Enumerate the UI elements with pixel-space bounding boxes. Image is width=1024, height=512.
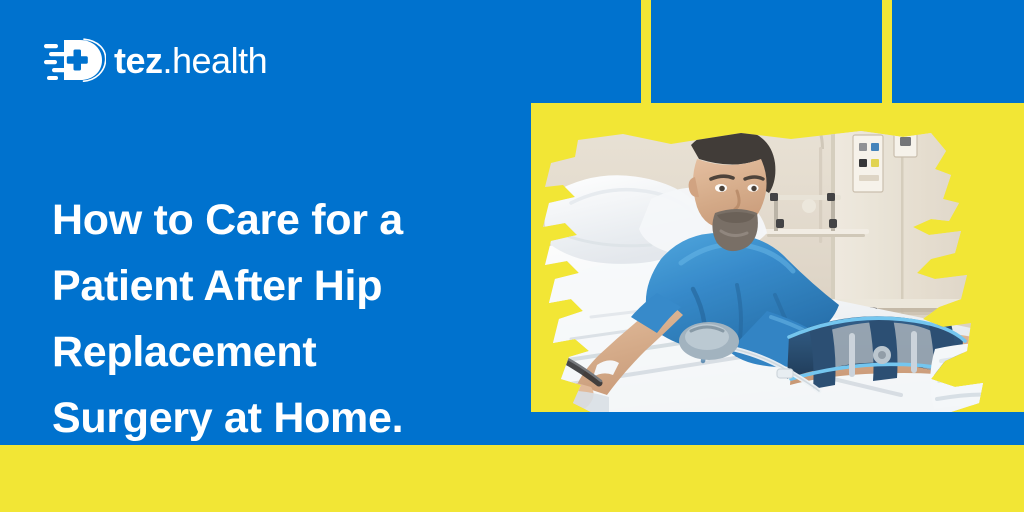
headline-line-1: How to Care for a bbox=[52, 187, 482, 253]
brand-wordmark-light: .health bbox=[163, 40, 268, 81]
yellow-bottom-strip bbox=[0, 445, 1024, 512]
headline: How to Care for a Patient After Hip Repl… bbox=[52, 187, 482, 451]
headline-line-4: Surgery at Home. bbox=[52, 385, 482, 451]
blog-banner: tez.health How to Care for a Patient Aft… bbox=[0, 0, 1024, 512]
hospital-patient-photo bbox=[531, 103, 1024, 412]
headline-line-2: Patient After Hip bbox=[52, 253, 482, 319]
brand-wordmark: tez.health bbox=[114, 43, 267, 79]
yellow-vertical-tick-1 bbox=[641, 0, 651, 104]
brand-wordmark-bold: tez bbox=[114, 40, 163, 81]
tez-health-speed-cross-icon bbox=[44, 38, 106, 82]
hero-photo bbox=[531, 103, 1024, 412]
headline-line-3: Replacement bbox=[52, 319, 482, 385]
brand-logo[interactable]: tez.health bbox=[44, 36, 267, 84]
yellow-vertical-tick-2 bbox=[882, 0, 892, 104]
